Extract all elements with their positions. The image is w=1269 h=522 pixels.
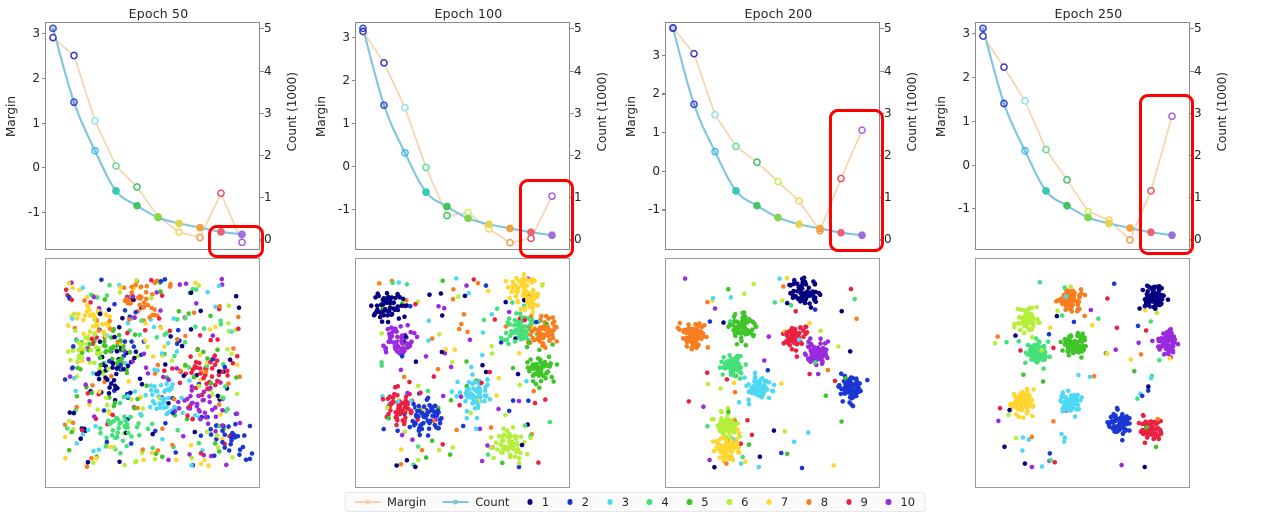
legend-dot-swatch (687, 499, 693, 505)
ytick-right-mark (260, 113, 264, 114)
legend-label: Count (475, 495, 509, 509)
panel-4: Epoch 2503210-1543210MarginCount (1000) (930, 0, 1247, 492)
ytick-right-label: 0 (1194, 232, 1218, 246)
y-axis-label-right: Count (1000) (285, 72, 299, 151)
ytick-right-label: 5 (1194, 21, 1218, 35)
line-series-group (355, 22, 570, 250)
legend-label: 2 (582, 495, 589, 509)
legend-line-swatch (354, 501, 380, 503)
scatter-plot (355, 258, 570, 488)
figure-legend: MarginCount12345678910 (344, 492, 925, 512)
legend-item-margin[interactable]: Margin (354, 495, 426, 509)
scatter-points-group (665, 258, 880, 488)
ytick-left-label: 3 (634, 48, 660, 62)
y-axis-label-left: Margin (314, 96, 328, 137)
ytick-right-mark (1190, 239, 1194, 240)
ytick-right-label: 5 (574, 21, 598, 35)
legend-label: 7 (781, 495, 788, 509)
ytick-right-mark (1190, 113, 1194, 114)
ytick-right-mark (570, 239, 574, 240)
ytick-left-label: 0 (324, 159, 350, 173)
ytick-right-mark (1190, 197, 1194, 198)
legend-dot-swatch (527, 499, 533, 505)
ytick-left-label: 3 (944, 26, 970, 40)
ytick-right-label: 1 (264, 190, 288, 204)
ytick-right-mark (880, 28, 884, 29)
ytick-right-mark (260, 71, 264, 72)
ytick-left-label: -1 (634, 202, 660, 216)
legend-item-class-6[interactable]: 6 (725, 495, 749, 509)
ytick-left-label: 2 (324, 73, 350, 87)
legend-label: 8 (821, 495, 828, 509)
legend-label: 10 (900, 495, 915, 509)
ytick-right-mark (260, 197, 264, 198)
ytick-right-mark (880, 155, 884, 156)
legend-dot-swatch (607, 499, 613, 505)
ytick-right-label: 0 (574, 232, 598, 246)
ytick-right-label: 5 (264, 21, 288, 35)
ytick-right-mark (880, 113, 884, 114)
legend-dot-swatch (846, 499, 852, 505)
ytick-right-mark (570, 155, 574, 156)
ytick-right-mark (880, 197, 884, 198)
scatter-points-group (45, 258, 260, 488)
ytick-right-mark (260, 28, 264, 29)
ytick-left-label: 2 (14, 71, 40, 85)
ytick-right-mark (1190, 28, 1194, 29)
y-axis-label-left: Margin (934, 96, 948, 137)
ytick-right-label: 1 (574, 190, 598, 204)
legend-label: Margin (387, 495, 426, 509)
ytick-left-label: 3 (14, 26, 40, 40)
line-series-group (45, 22, 260, 250)
ytick-left-label: -1 (324, 202, 350, 216)
legend-item-class-4[interactable]: 4 (645, 495, 669, 509)
ytick-right-label: 1 (1194, 190, 1218, 204)
ytick-right-mark (570, 71, 574, 72)
panel-title: Epoch 250 (930, 6, 1247, 21)
legend-label: 1 (542, 495, 549, 509)
ytick-right-label: 1 (884, 190, 908, 204)
ytick-left-label: 3 (324, 30, 350, 44)
legend-dot-swatch (567, 499, 573, 505)
legend-item-class-2[interactable]: 2 (565, 495, 589, 509)
legend-item-class-5[interactable]: 5 (685, 495, 709, 509)
ytick-right-mark (570, 28, 574, 29)
line-chart: 3210-1543210MarginCount (1000) (620, 22, 937, 254)
legend-dot-swatch (647, 499, 653, 505)
y-axis-label-right: Count (1000) (1215, 72, 1229, 151)
y-axis-label-right: Count (1000) (905, 72, 919, 151)
ytick-right-mark (260, 155, 264, 156)
line-chart: 3210-1543210MarginCount (1000) (0, 22, 317, 254)
legend-item-class-3[interactable]: 3 (605, 495, 629, 509)
scatter-points-group (355, 258, 570, 488)
y-axis-label-right: Count (1000) (595, 72, 609, 151)
line-chart: 3210-1543210MarginCount (1000) (930, 22, 1247, 254)
ytick-right-mark (1190, 71, 1194, 72)
panel-title: Epoch 50 (0, 6, 317, 21)
legend-dot-swatch (806, 499, 812, 505)
ytick-left-label: 0 (14, 160, 40, 174)
legend-label: 5 (701, 495, 708, 509)
ytick-right-label: 5 (884, 21, 908, 35)
legend-dot-swatch (727, 499, 733, 505)
legend-item-class-8[interactable]: 8 (804, 495, 828, 509)
figure-root: Epoch 503210-1543210MarginCount (1000)Ep… (0, 0, 1269, 522)
ytick-left-label: 2 (944, 70, 970, 84)
y-axis-label-left: Margin (4, 96, 18, 137)
ytick-right-mark (880, 239, 884, 240)
legend-item-class-1[interactable]: 1 (525, 495, 549, 509)
scatter-plot (45, 258, 260, 488)
ytick-right-label: 0 (884, 232, 908, 246)
legend-item-count[interactable]: Count (442, 495, 509, 509)
scatter-plot (665, 258, 880, 488)
ytick-left-label: 0 (634, 164, 660, 178)
panel-2: Epoch 1003210-1543210MarginCount (1000) (310, 0, 627, 492)
line-series-group (665, 22, 880, 250)
legend-dot-swatch (886, 499, 892, 505)
line-series-group (975, 22, 1190, 250)
ytick-left-label: -1 (14, 205, 40, 219)
legend-label: 3 (622, 495, 629, 509)
legend-line-swatch (442, 501, 468, 503)
legend-label: 6 (741, 495, 748, 509)
scatter-plot (975, 258, 1190, 488)
panel-3: Epoch 2003210-1543210MarginCount (1000) (620, 0, 937, 492)
y-axis-label-left: Margin (624, 96, 638, 137)
legend-dot-swatch (766, 499, 772, 505)
ytick-right-label: 0 (264, 232, 288, 246)
ytick-left-label: -1 (944, 201, 970, 215)
panel-title: Epoch 100 (310, 6, 627, 21)
ytick-left-label: 0 (944, 158, 970, 172)
panel-1: Epoch 503210-1543210MarginCount (1000) (0, 0, 317, 492)
scatter-points-group (975, 258, 1190, 488)
line-chart: 3210-1543210MarginCount (1000) (310, 22, 627, 254)
ytick-right-mark (570, 113, 574, 114)
ytick-right-mark (260, 239, 264, 240)
ytick-right-mark (570, 197, 574, 198)
legend-item-class-9[interactable]: 9 (844, 495, 868, 509)
legend-label: 9 (861, 495, 868, 509)
legend-item-class-10[interactable]: 10 (884, 495, 915, 509)
legend-label: 4 (661, 495, 668, 509)
ytick-right-mark (880, 71, 884, 72)
ytick-right-mark (1190, 155, 1194, 156)
legend-item-class-7[interactable]: 7 (764, 495, 788, 509)
panel-title: Epoch 200 (620, 6, 937, 21)
